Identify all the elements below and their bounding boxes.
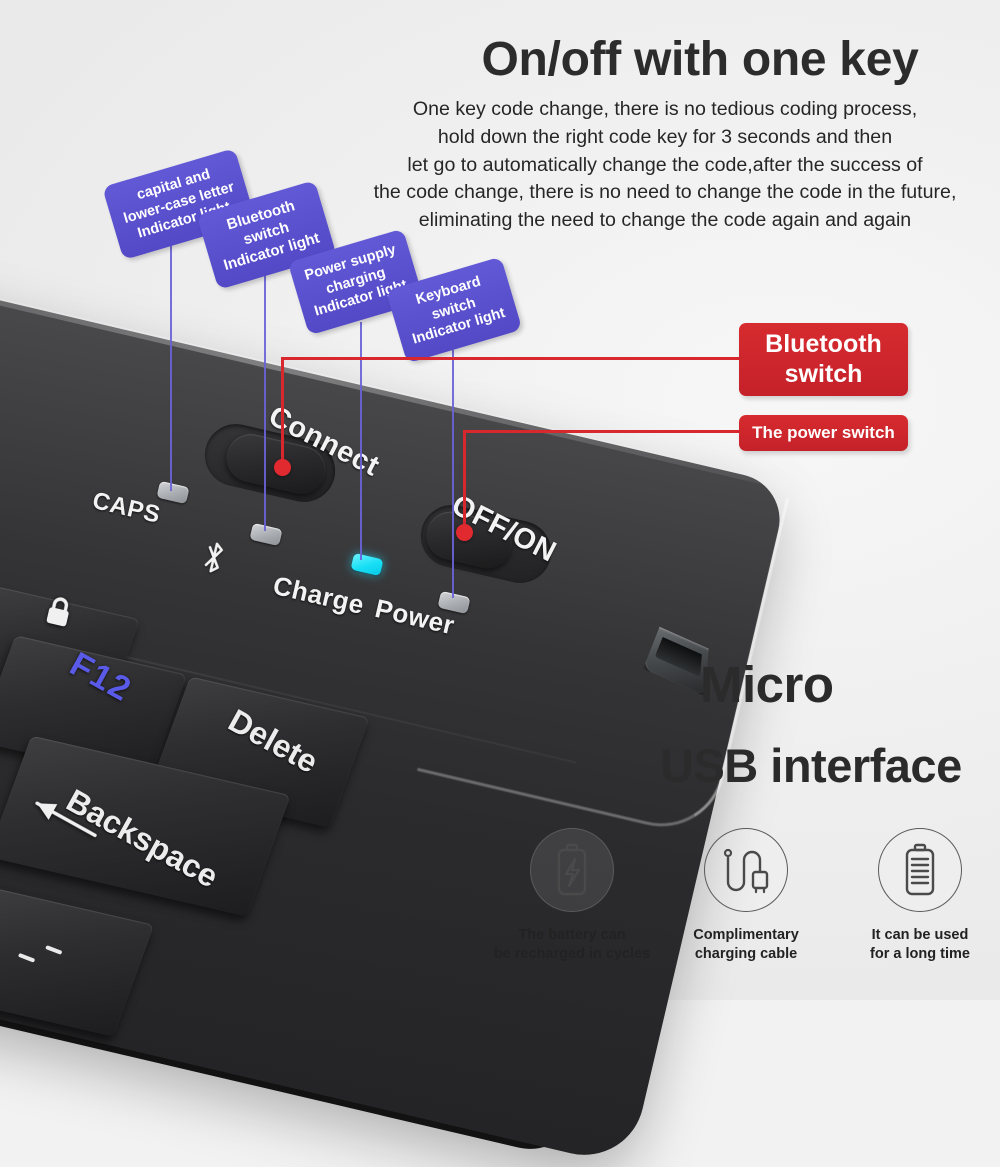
red-callout-line: Bluetooth <box>765 330 882 358</box>
feature-icon-frame <box>704 828 788 912</box>
battery-charging-icon <box>550 842 594 898</box>
red-callout-line: switch <box>785 360 863 388</box>
feature-caption: The battery can be recharged in cycles <box>494 926 650 964</box>
red-callout-bluetooth-switch: Bluetooth switch <box>739 323 908 396</box>
paragraph-line: eliminating the need to change the code … <box>330 207 1000 235</box>
red-marker-power-switch <box>456 524 473 541</box>
feature-caption-line: Complimentary <box>693 926 799 945</box>
red-leader-line-power-vertical <box>463 430 466 532</box>
red-leader-line-power-horizontal <box>463 430 741 433</box>
red-marker-connect-button <box>274 459 291 476</box>
micro-usb-title-line2: USB interface <box>660 738 1000 793</box>
leader-line-keyboard <box>452 350 454 598</box>
description-paragraph: One key code change, there is no tedious… <box>330 96 1000 235</box>
feature-item-long-life: It can be used for a long time <box>840 828 1000 964</box>
feature-item-battery-recharge: The battery can be recharged in cycles <box>492 828 652 964</box>
red-leader-line-bluetooth-horizontal <box>281 357 741 360</box>
paragraph-line: the code change, there is no need to cha… <box>330 179 1000 207</box>
charging-cable-icon <box>720 842 772 898</box>
feature-caption-line: for a long time <box>870 945 970 964</box>
feature-caption: Complimentary charging cable <box>693 926 799 964</box>
paragraph-line: let go to automatically change the code,… <box>330 152 1000 180</box>
feature-caption-line: The battery can <box>494 926 650 945</box>
leader-line-caps <box>170 245 172 491</box>
page-title: On/off with one key <box>420 32 980 87</box>
paragraph-line: hold down the right code key for 3 secon… <box>330 124 1000 152</box>
feature-item-charging-cable: Complimentary charging cable <box>666 828 826 964</box>
feature-caption-line: be recharged in cycles <box>494 945 650 964</box>
red-callout-line: The power switch <box>752 423 895 443</box>
feature-icon-frame <box>530 828 614 912</box>
micro-usb-title-line1: Micro <box>700 655 1000 714</box>
battery-full-icon <box>898 842 942 898</box>
feature-caption-line: It can be used <box>870 926 970 945</box>
feature-caption: It can be used for a long time <box>870 926 970 964</box>
red-callout-power-switch: The power switch <box>739 415 908 451</box>
feature-icon-frame <box>878 828 962 912</box>
leader-line-bluetooth <box>264 275 266 531</box>
red-leader-line-bluetooth-vertical <box>281 357 284 467</box>
feature-caption-line: charging cable <box>693 945 799 964</box>
paragraph-line: One key code change, there is no tedious… <box>330 96 1000 124</box>
feature-row: The battery can be recharged in cycles C… <box>492 828 1000 964</box>
